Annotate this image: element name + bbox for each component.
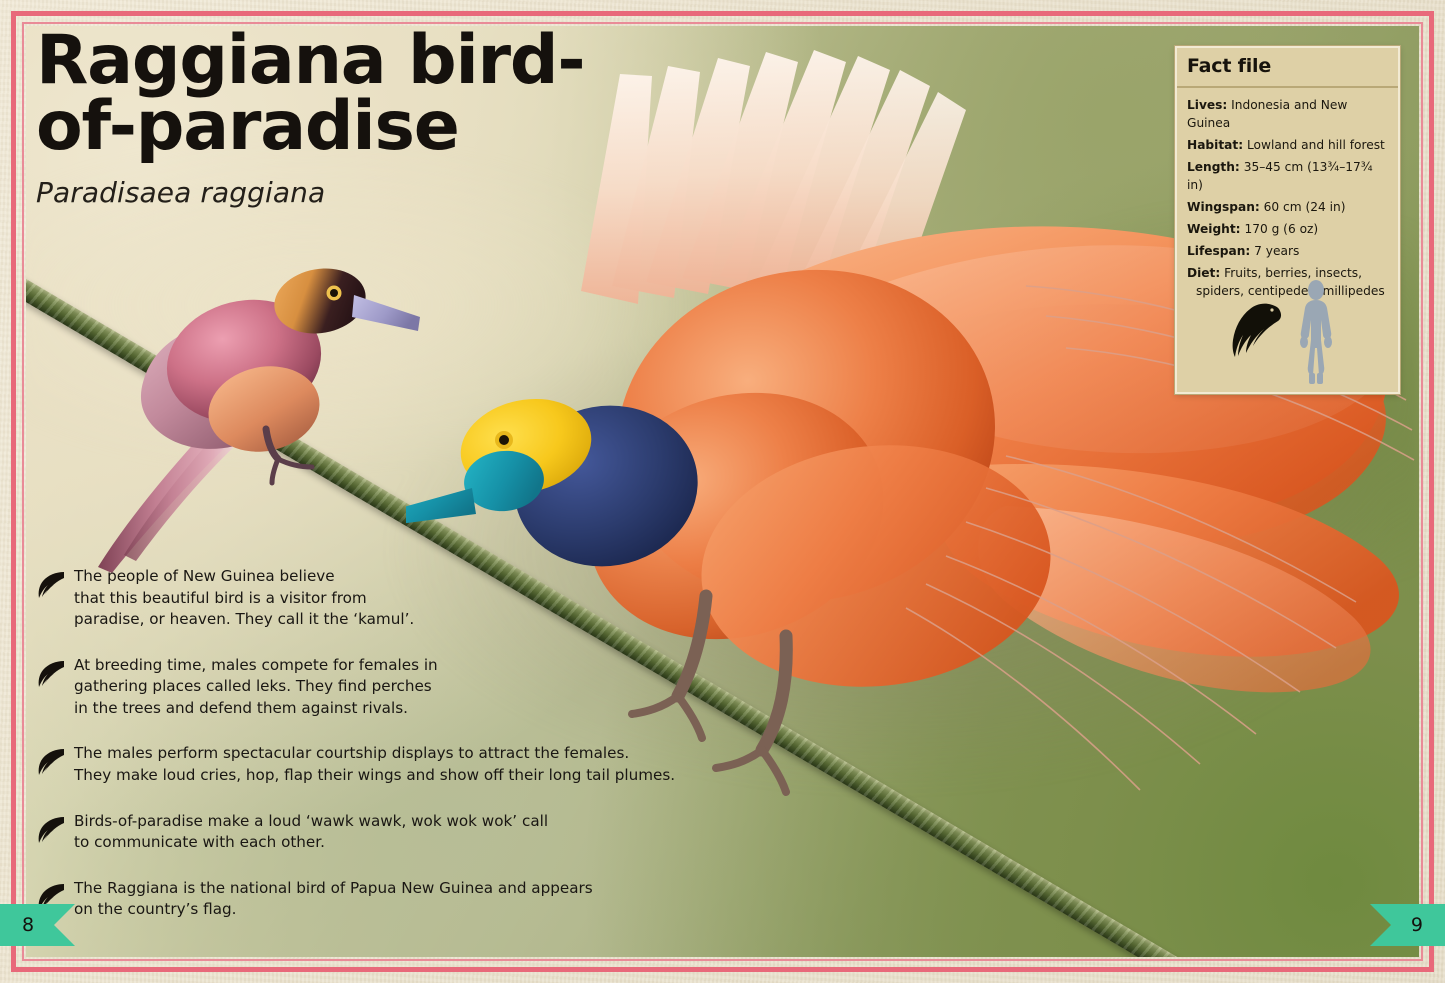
list-item-text: The people of New Guinea believe that th… [74,566,676,631]
list-item-text: The males perform spectacular courtship … [74,743,676,786]
fact-bullet-list: The people of New Guinea believe that th… [36,566,676,921]
feather-icon [36,812,66,844]
book-spread: Raggiana bird- of-paradise Paradisaea ra… [0,0,1445,983]
list-item-text: The Raggiana is the national bird of Pap… [74,878,676,921]
scientific-name: Paradisaea raggiana [36,176,596,209]
list-item-text: At breeding time, males compete for fema… [74,655,676,720]
fact-file-body: Lives: Indonesia and New Guinea Habitat:… [1177,88,1398,308]
page-number-right-value: 9 [1411,914,1423,936]
fact-value: Lowland and hill forest [1247,138,1385,152]
fact-label: Lifespan: [1187,244,1250,258]
list-item: The males perform spectacular courtship … [36,743,676,786]
feather-icon [36,567,66,599]
fact-label: Lives: [1187,98,1227,112]
bird-silhouette-icon [1225,296,1283,358]
title-block: Raggiana bird- of-paradise Paradisaea ra… [36,28,596,209]
fact-label: Wingspan: [1187,200,1260,214]
fact-row-length: Length: 35–45 cm (13¾–17¾ in) [1187,158,1388,194]
list-item: Birds-of-paradise make a loud ‘wawk wawk… [36,811,676,854]
page-title: Raggiana bird- of-paradise [36,28,596,160]
fact-label: Length: [1187,160,1240,174]
fact-value: 170 g (6 oz) [1244,222,1318,236]
page-number-left-value: 8 [22,914,34,936]
fact-value: 7 years [1254,244,1299,258]
fact-file-title: Fact file [1187,55,1388,77]
fact-row-lifespan: Lifespan: 7 years [1187,242,1388,260]
fact-file-panel: Fact file Lives: Indonesia and New Guine… [1175,46,1400,394]
list-item: At breeding time, males compete for fema… [36,655,676,720]
human-silhouette-icon [1287,280,1345,384]
female-beak [352,295,420,331]
fact-row-lives: Lives: Indonesia and New Guinea [1187,96,1388,132]
list-item: The Raggiana is the national bird of Pap… [36,878,676,921]
list-item-text: Birds-of-paradise make a loud ‘wawk wawk… [74,811,676,854]
size-comparison-figure [1177,278,1398,386]
fact-row-weight: Weight: 170 g (6 oz) [1187,220,1388,238]
fact-row-habitat: Habitat: Lowland and hill forest [1187,136,1388,154]
feather-icon [36,656,66,688]
fact-label: Weight: [1187,222,1241,236]
fact-value: 60 cm (24 in) [1264,200,1346,214]
fact-row-wingspan: Wingspan: 60 cm (24 in) [1187,198,1388,216]
fact-label: Habitat: [1187,138,1243,152]
list-item: The people of New Guinea believe that th… [36,566,676,631]
female-bird [96,251,426,581]
fact-file-header: Fact file [1177,48,1398,88]
feather-icon [36,744,66,776]
